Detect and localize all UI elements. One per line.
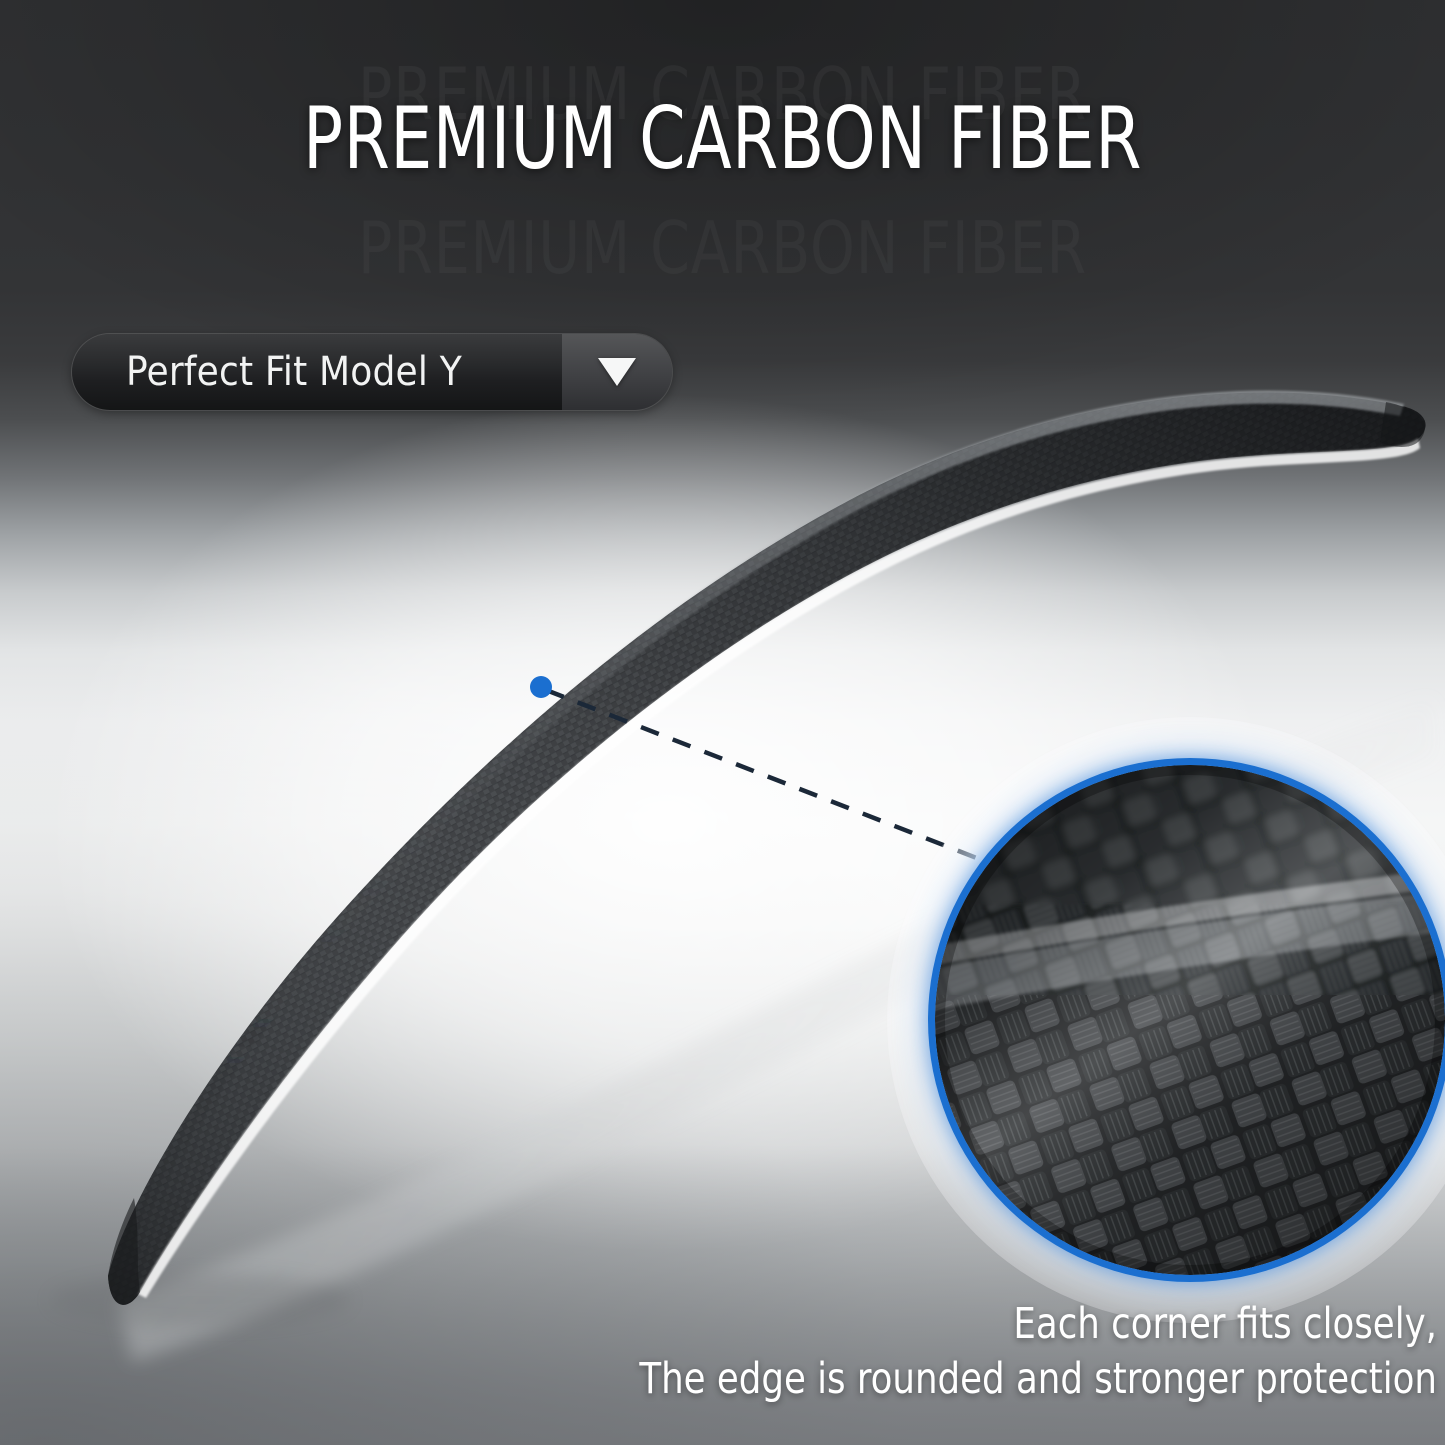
feature-caption: Each corner fits closely, The edge is ro… <box>639 1297 1437 1407</box>
product-marketing-image: PREMIUM CARBON FIBER PREMIUM CARBON FIBE… <box>0 0 1445 1445</box>
caption-line-2: The edge is rounded and stronger protect… <box>639 1352 1437 1407</box>
product-contact-shadow <box>50 1274 350 1326</box>
caption-line-1: Each corner fits closely, <box>639 1297 1437 1352</box>
magnifier-ring <box>935 765 1445 1275</box>
carbon-weave-detail-zoom <box>935 765 1445 1275</box>
